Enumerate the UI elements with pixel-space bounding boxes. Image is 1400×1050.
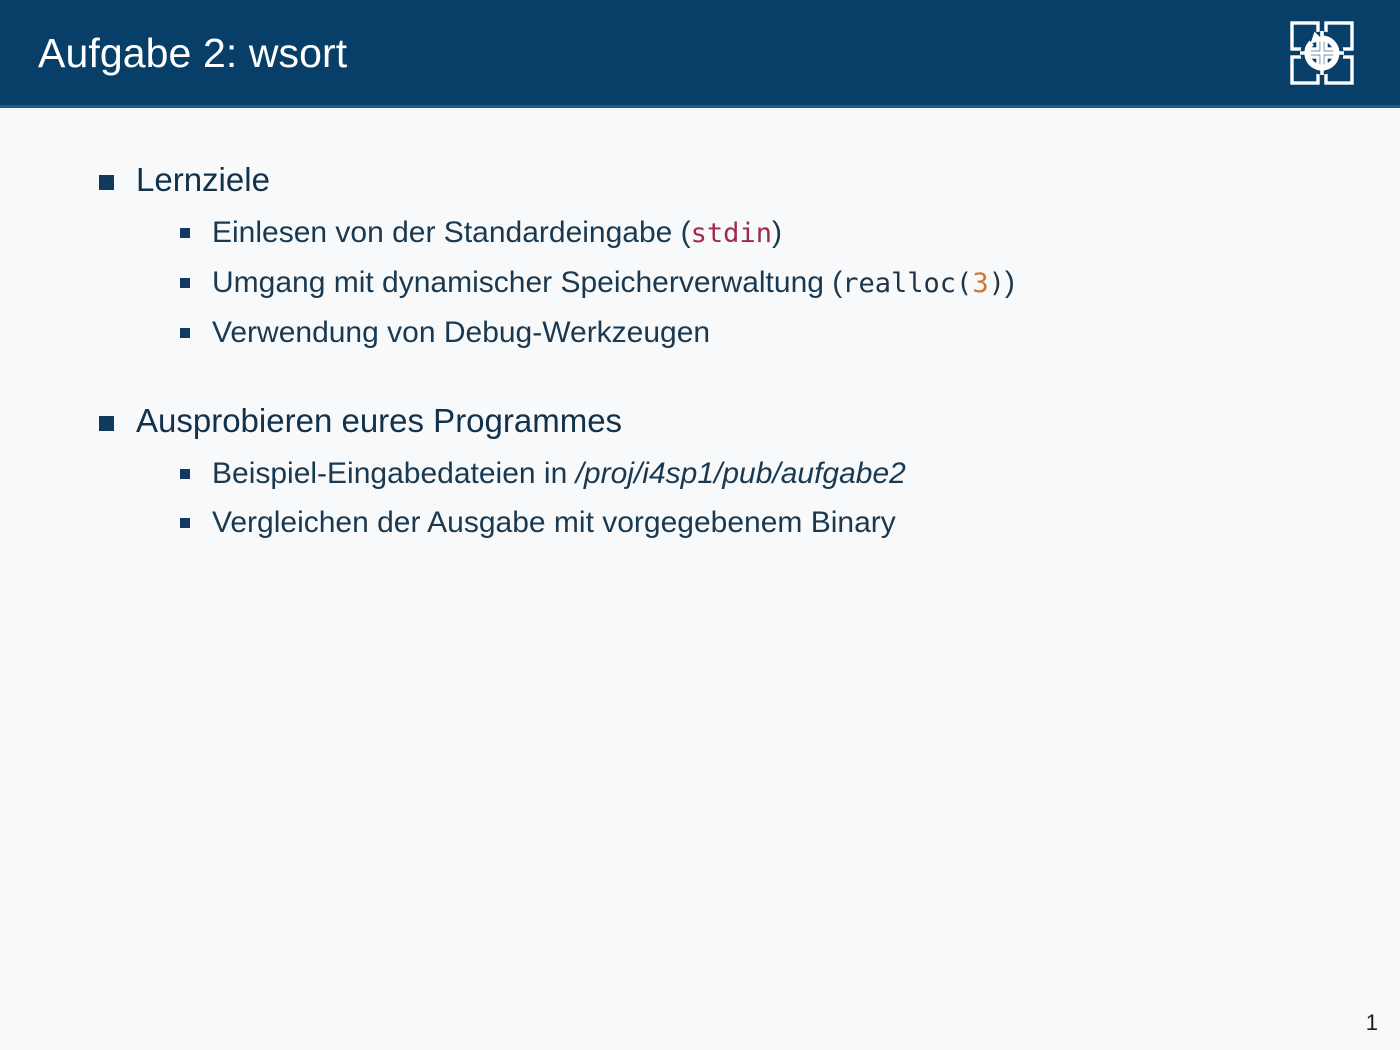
text-run: Verwendung von Debug-Werkzeugen [212, 316, 710, 349]
sub-bullet-list: Beispiel-Eingabedateien in /proj/i4sp1/p… [0, 449, 1400, 547]
content-block-ausprobieren: Ausprobieren eures Programmes Beispiel-E… [0, 399, 1400, 547]
code-token-section-number: 3 [972, 268, 988, 299]
bullet-level1-label: Lernziele [136, 161, 270, 198]
code-token-realloc: realloc( [842, 268, 972, 299]
bullet-square-icon [99, 416, 114, 431]
bullet-level2: Beispiel-Eingabedateien in /proj/i4sp1/p… [0, 449, 1400, 498]
bullet-level2: Vergleichen der Ausgabe mit vorgegebenem… [0, 498, 1400, 547]
bullet-level1: Ausprobieren eures Programmes [0, 399, 1400, 443]
bullet-level2-label: Vergleichen der Ausgabe mit vorgegebenem… [212, 506, 896, 539]
slide-content: Lernziele Einlesen von der Standardeinga… [0, 106, 1400, 1050]
file-path-text: /proj/i4sp1/pub/aufgabe2 [576, 457, 906, 490]
bullet-small-square-icon [180, 328, 190, 338]
text-run: Beispiel-Eingabedateien in [212, 457, 576, 490]
bullet-small-square-icon [180, 518, 190, 528]
bullet-level2-label: Beispiel-Eingabedateien in /proj/i4sp1/p… [212, 457, 906, 490]
code-token-stdin: stdin [691, 218, 772, 249]
slide: Aufgabe 2: wsort [0, 0, 1400, 1050]
bullet-level1: Lernziele [0, 158, 1400, 202]
bullet-level2: Verwendung von Debug-Werkzeugen [0, 308, 1400, 357]
content-block-lernziele: Lernziele Einlesen von der Standardeinga… [0, 158, 1400, 357]
text-run: Vergleichen der Ausgabe mit vorgegebenem… [212, 506, 896, 539]
bullet-level2-label: Umgang mit dynamischer Speicherverwaltun… [212, 266, 1015, 299]
page-number: 1 [1366, 1010, 1378, 1036]
sub-bullet-list: Einlesen von der Standardeingabe (stdin)… [0, 208, 1400, 357]
bullet-level2-label: Einlesen von der Standardeingabe (stdin) [212, 216, 782, 249]
i4-logo-icon [1288, 19, 1356, 87]
slide-header-bar: Aufgabe 2: wsort [0, 0, 1400, 105]
code-token-close-paren: ) [989, 268, 1005, 299]
text-run: ) [772, 216, 782, 249]
text-run: Umgang mit dynamischer Speicherverwaltun… [212, 266, 842, 299]
bullet-level2: Einlesen von der Standardeingabe (stdin) [0, 208, 1400, 258]
slide-title: Aufgabe 2: wsort [38, 29, 347, 77]
bullet-small-square-icon [180, 228, 190, 238]
text-run: ) [1005, 266, 1015, 299]
bullet-small-square-icon [180, 278, 190, 288]
bullet-level1-label: Ausprobieren eures Programmes [136, 402, 622, 439]
bullet-small-square-icon [180, 469, 190, 479]
bullet-level2-label: Verwendung von Debug-Werkzeugen [212, 316, 710, 349]
text-run: Einlesen von der Standardeingabe ( [212, 216, 691, 249]
bullet-square-icon [99, 175, 114, 190]
bullet-level2: Umgang mit dynamischer Speicherverwaltun… [0, 258, 1400, 308]
